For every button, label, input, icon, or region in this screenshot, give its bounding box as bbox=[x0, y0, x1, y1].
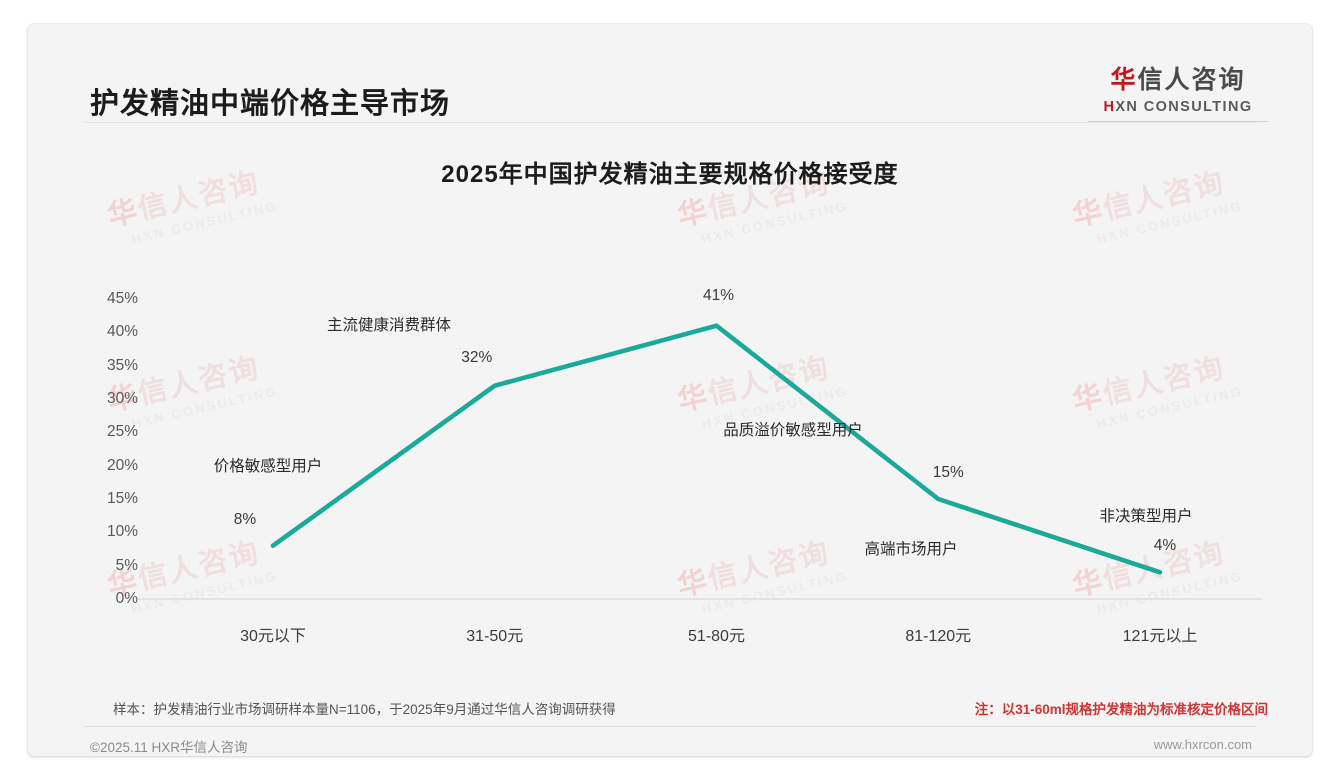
chart-annotation: 高端市场用户 bbox=[864, 537, 957, 559]
chart-annotation: 品质溢价敏感型用户 bbox=[723, 418, 863, 440]
data-point-label: 8% bbox=[234, 511, 256, 529]
data-point-label: 41% bbox=[703, 287, 734, 305]
data-point-label: 4% bbox=[1154, 537, 1176, 555]
chart-annotation: 主流健康消费群体 bbox=[327, 313, 451, 335]
chart-annotation: 价格敏感型用户 bbox=[214, 454, 323, 476]
chart-annotation: 非决策型用户 bbox=[1099, 504, 1192, 526]
chart-overlays: 8%32%41%15%4%价格敏感型用户主流健康消费群体品质溢价敏感型用户高端市… bbox=[28, 24, 1312, 756]
data-point-label: 15% bbox=[933, 464, 964, 482]
data-point-label: 32% bbox=[461, 349, 492, 367]
slide-card: 华信人咨询HXN CONSULTING华信人咨询HXN CONSULTING华信… bbox=[28, 24, 1312, 756]
